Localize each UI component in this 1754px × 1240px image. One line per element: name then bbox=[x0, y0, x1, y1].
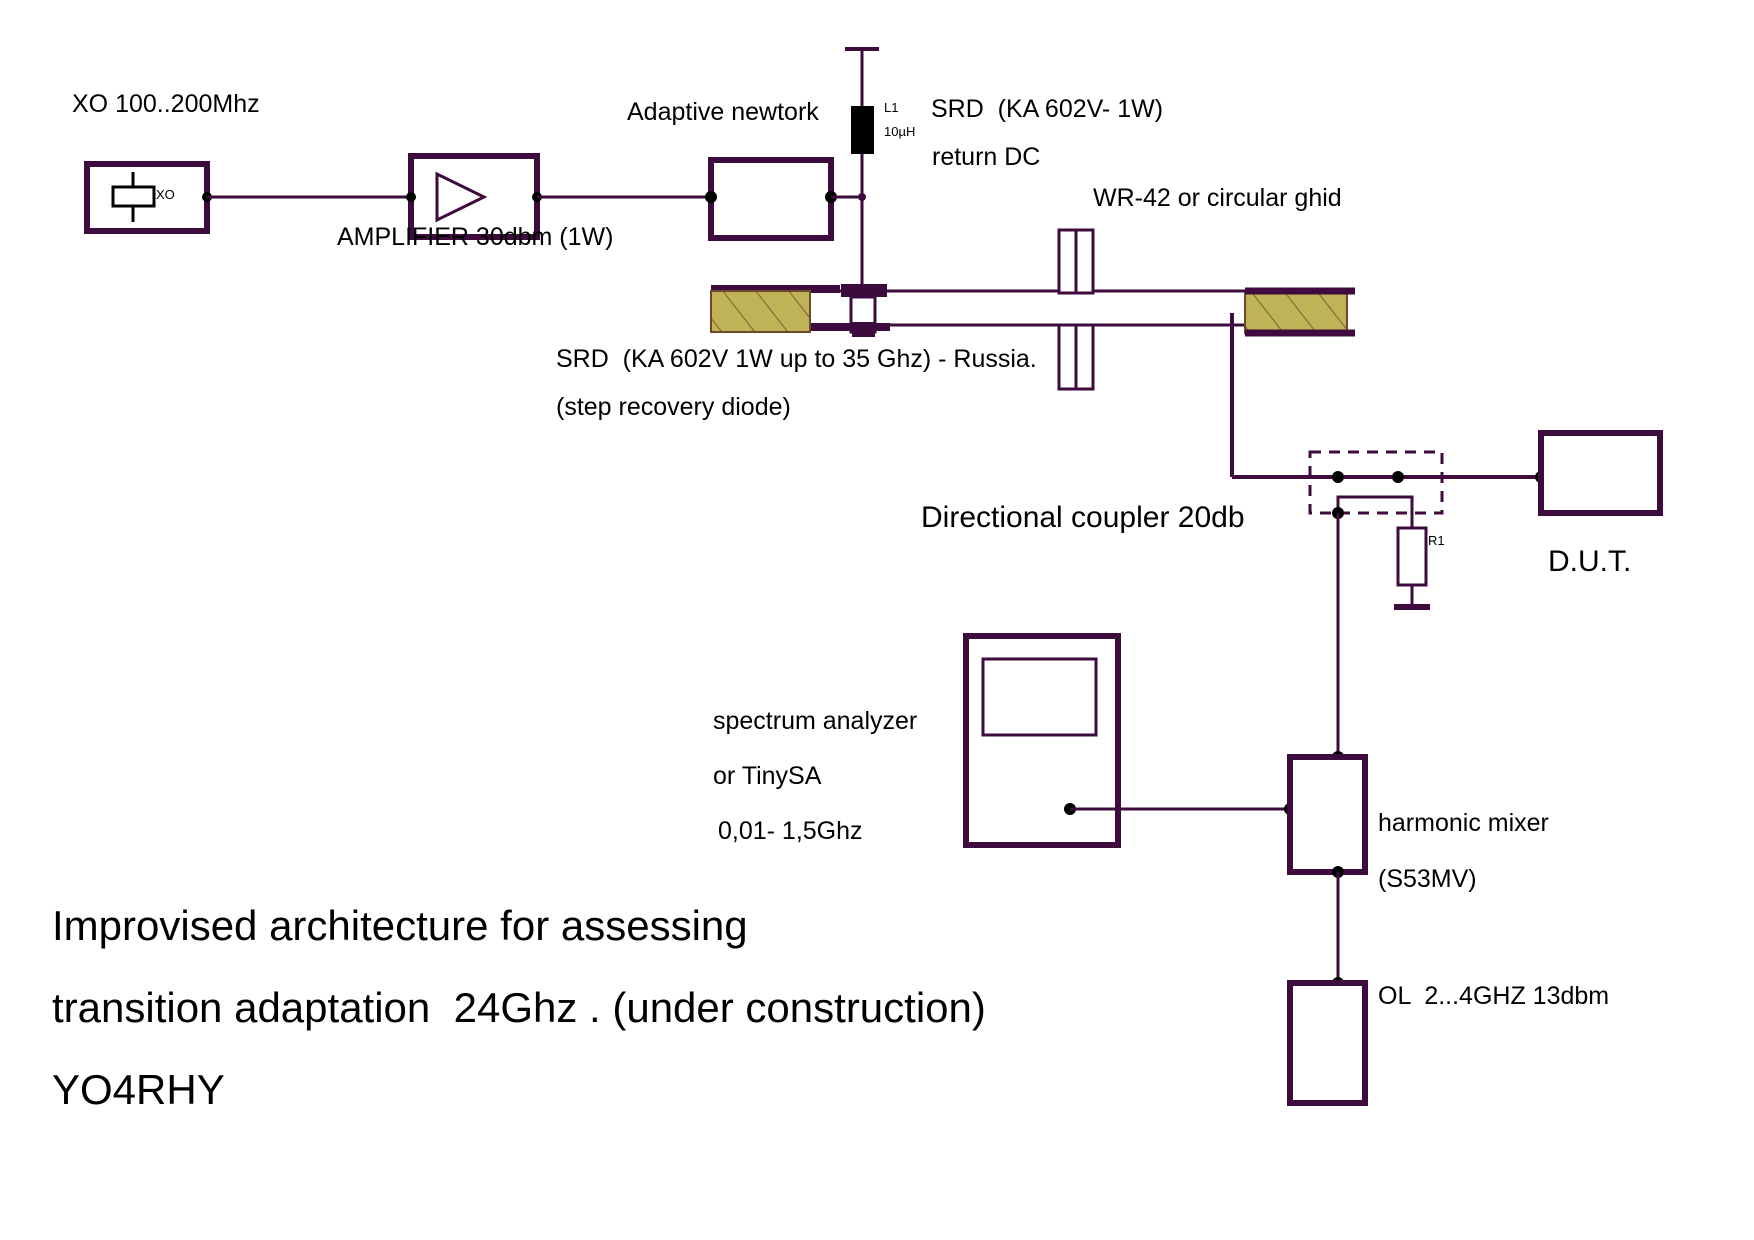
crystal-body bbox=[113, 187, 154, 206]
crystal-oscillator-block[interactable] bbox=[87, 164, 212, 231]
waveguide-flange-bottom-left bbox=[1059, 325, 1076, 389]
spectrum-analyzer-label-line3: 0,01- 1,5Ghz bbox=[718, 818, 863, 844]
inductor-ref-label: L1 bbox=[884, 101, 898, 115]
local-oscillator-label: OL 2...4GHZ 13dbm bbox=[1378, 983, 1609, 1009]
xo-symbol-label: XO bbox=[156, 188, 175, 202]
srd-top-label-line1: SRD (KA 602V- 1W) bbox=[931, 96, 1163, 122]
srd-bottom-label-line2: (step recovery diode) bbox=[556, 394, 791, 420]
coupler-coupled-line bbox=[1338, 497, 1412, 513]
caption-line-2: transition adaptation 24Ghz . (under con… bbox=[52, 986, 986, 1030]
coupler-dashed-outline bbox=[1310, 452, 1442, 513]
directional-coupler-label: Directional coupler 20db bbox=[921, 502, 1245, 534]
spectrum-analyzer-screen bbox=[983, 659, 1096, 735]
waveguide-flange-top-right bbox=[1076, 230, 1093, 293]
adaptive-network-block[interactable] bbox=[705, 160, 837, 238]
srd-bottom-label-line1: SRD (KA 602V 1W up to 35 Ghz) - Russia. bbox=[556, 346, 1037, 372]
resistor-ref-label: R1 bbox=[1428, 534, 1445, 548]
waveguide-right-absorber bbox=[1245, 293, 1347, 333]
local-oscillator-block[interactable] bbox=[1290, 983, 1365, 1103]
srd-bottom-contact bbox=[852, 322, 875, 337]
l1-body bbox=[851, 106, 874, 154]
caption-line-1: Improvised architecture for assessing bbox=[52, 904, 748, 948]
srd-top-disc bbox=[841, 284, 887, 297]
adaptive-input-node bbox=[705, 191, 717, 203]
waveguide-flange-bottom-right bbox=[1076, 325, 1093, 389]
schematic-drawing bbox=[0, 0, 1754, 1240]
coupler-output-node bbox=[1392, 471, 1404, 483]
srd-top-label-line2: return DC bbox=[932, 144, 1040, 170]
waveguide-left-absorber bbox=[711, 291, 810, 332]
dut-block[interactable] bbox=[1541, 433, 1660, 513]
r1-body bbox=[1398, 528, 1426, 585]
coupler-input-node bbox=[1332, 471, 1344, 483]
dut-label: D.U.T. bbox=[1548, 546, 1631, 578]
spectrum-analyzer-label-line2: or TinySA bbox=[713, 763, 821, 789]
schematic-canvas: XO 100..200Mhz XO AMPLIFIER 30dbm (1W) A… bbox=[0, 0, 1754, 1240]
spectrum-analyzer-block[interactable] bbox=[966, 636, 1118, 845]
amp-input-node bbox=[406, 192, 416, 202]
directional-coupler-block[interactable] bbox=[1310, 452, 1442, 519]
harmonic-mixer-block[interactable] bbox=[1290, 757, 1365, 878]
spectrum-analyzer-label-line1: spectrum analyzer bbox=[713, 708, 917, 734]
waveguide-flange-top-left bbox=[1059, 230, 1076, 293]
inductor-l1[interactable] bbox=[845, 49, 879, 197]
adaptive-network-label: Adaptive newtork bbox=[627, 99, 819, 125]
inductor-value-label: 10µH bbox=[884, 125, 915, 139]
caption-line-3: YO4RHY bbox=[52, 1068, 225, 1112]
resistor-r1[interactable] bbox=[1394, 513, 1430, 607]
amplifier-label: AMPLIFIER 30dbm (1W) bbox=[337, 224, 613, 250]
xo-title-label: XO 100..200Mhz bbox=[72, 91, 260, 117]
waveguide-label: WR-42 or circular ghid bbox=[1093, 185, 1342, 211]
harmonic-mixer-label-line1: harmonic mixer bbox=[1378, 810, 1549, 836]
harmonic-mixer-label-line2: (S53MV) bbox=[1378, 866, 1477, 892]
